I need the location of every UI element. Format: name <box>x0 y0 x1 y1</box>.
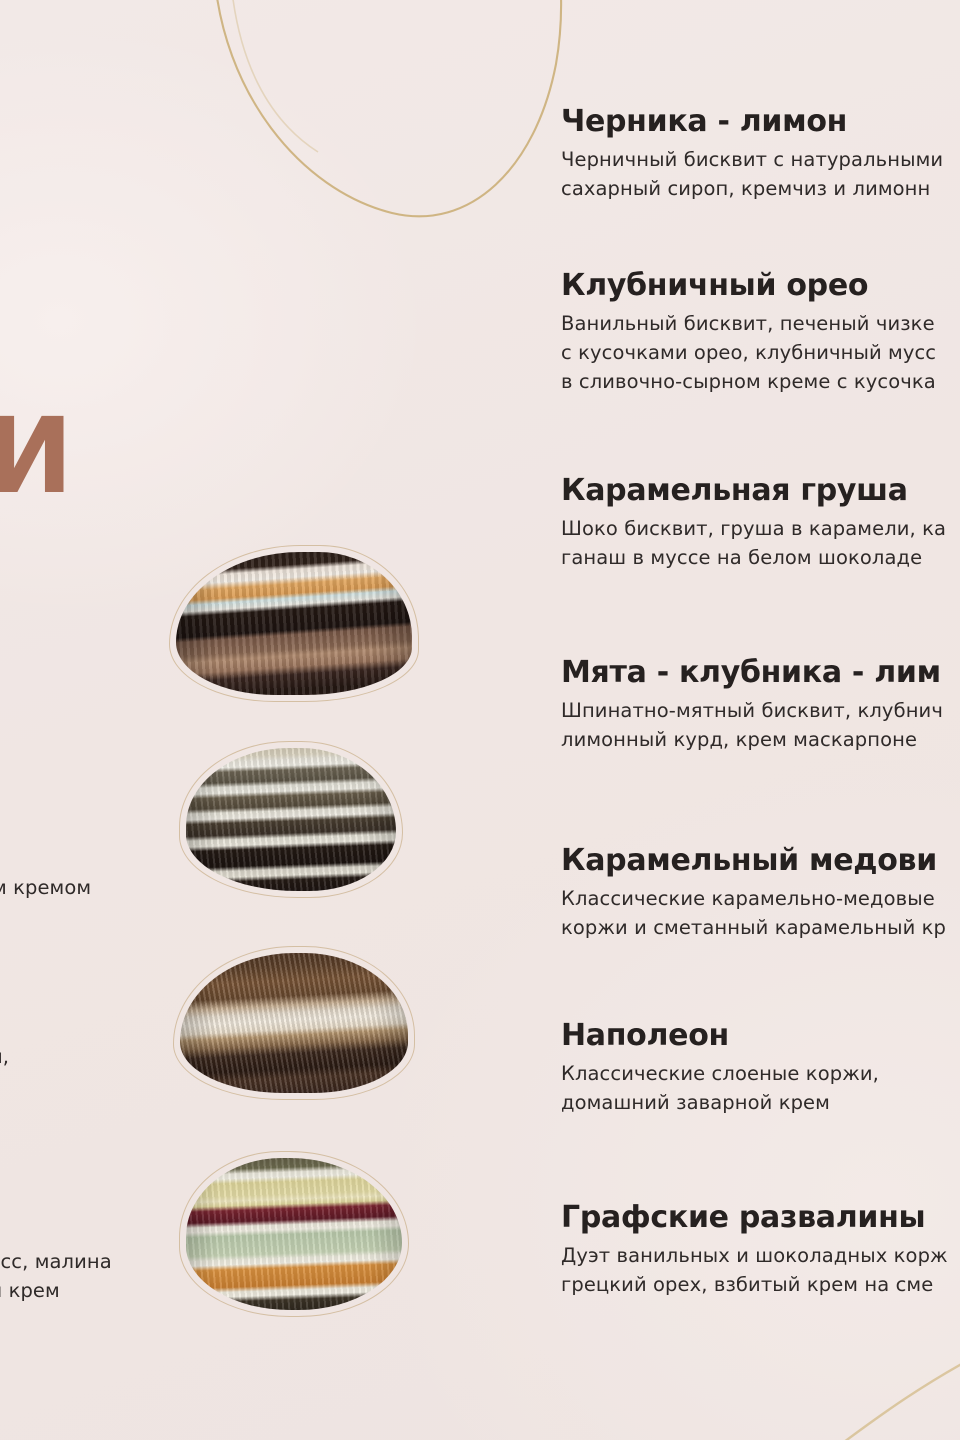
menu-item-title: Графские развалины <box>561 1200 960 1236</box>
menu-item-grafskie-razvaliny: Графские развалины Дуэт ванильных и шоко… <box>561 1200 960 1299</box>
menu-item-myata-klubnika-limon: Мята - клубника - лим Шпинатно-мятный би… <box>561 655 960 754</box>
cake-photo-medovik <box>186 748 396 891</box>
cake-photo-mint-strawberry-lemon <box>186 1158 402 1310</box>
cake-photo-napoleon <box>180 953 408 1093</box>
gold-arc-top <box>214 0 561 216</box>
menu-item-description: Классические карамельно-медовые коржи и … <box>561 884 960 942</box>
section-initial-letter: И <box>0 404 71 508</box>
menu-item-karamelnyy-medovik: Карамельный медови Классические карамель… <box>561 843 960 942</box>
menu-item-title: Клубничный орео <box>561 268 960 304</box>
menu-item-title: Мята - клубника - лим <box>561 655 960 691</box>
menu-item-description: Ванильный бисквит, печеный чизке с кусоч… <box>561 309 960 396</box>
menu-item-chernika-limon: Черника - лимон Черничный бисквит с нату… <box>561 104 960 203</box>
menu-list: Черника - лимон Черничный бисквит с нату… <box>561 0 960 1440</box>
menu-item-title: Наполеон <box>561 1018 960 1054</box>
menu-poster: И м кремом м, мусс, малина ый крем Черни… <box>0 0 960 1440</box>
clipped-description-fragment-1: м кремом <box>0 873 91 902</box>
cake-photo-strawberry-oreo <box>176 552 412 695</box>
menu-item-description: Классические слоеные коржи, домашний зав… <box>561 1059 960 1117</box>
gold-arc-top-inner <box>230 0 318 152</box>
clipped-description-fragment-2: м, <box>0 1042 9 1071</box>
menu-item-napoleon: Наполеон Классические слоеные коржи, дом… <box>561 1018 960 1117</box>
menu-item-klubnichnyy-oreo: Клубничный орео Ванильный бисквит, печен… <box>561 268 960 396</box>
clipped-description-fragment-3: мусс, малина ый крем <box>0 1247 112 1305</box>
cake-photo-image <box>186 748 396 891</box>
menu-item-title: Черника - лимон <box>561 104 960 140</box>
menu-item-karamelnaya-grusha: Карамельная груша Шоко бисквит, груша в … <box>561 473 960 572</box>
menu-item-description: Дуэт ванильных и шоколадных корж грецкий… <box>561 1241 960 1299</box>
menu-item-description: Шпинатно-мятный бисквит, клубнич лимонны… <box>561 696 960 754</box>
menu-item-title: Карамельная груша <box>561 473 960 509</box>
menu-item-description: Черничный бисквит с натуральными сахарны… <box>561 145 960 203</box>
menu-item-title: Карамельный медови <box>561 843 960 879</box>
menu-item-description: Шоко бисквит, груша в карамели, ка ганаш… <box>561 514 960 572</box>
